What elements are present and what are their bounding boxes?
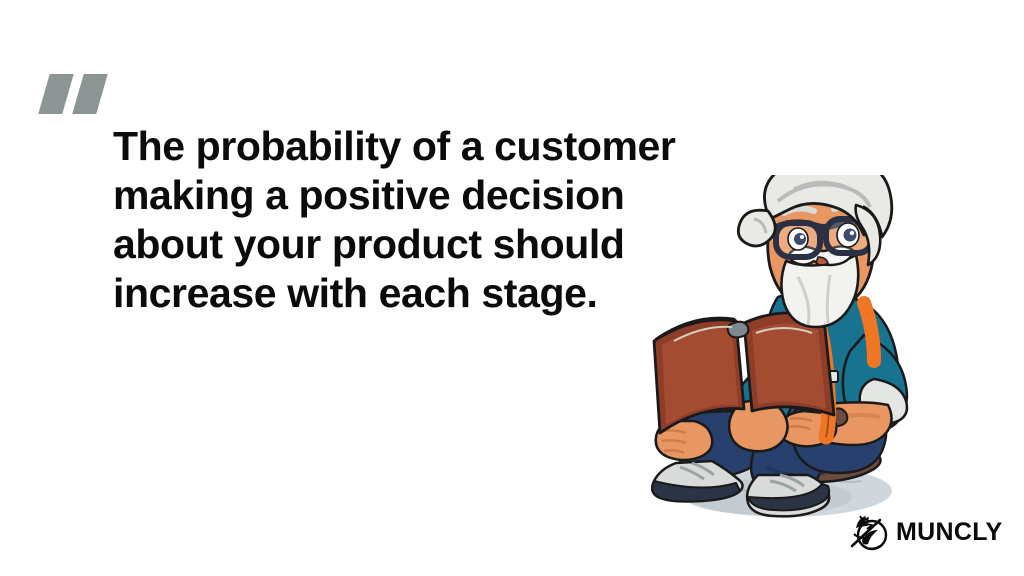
elderly-man-reading-book-illustration	[618, 175, 928, 520]
brand-logo: MUNCLY	[846, 509, 998, 555]
brand-name: MUNCLY	[896, 520, 1002, 545]
quote-slide: The probability of a customer making a p…	[0, 0, 1024, 576]
quote-text: The probability of a customer making a p…	[113, 122, 688, 318]
quote-line-2: making a positive decision	[113, 171, 688, 220]
muncly-crest-icon	[846, 510, 890, 554]
quote-line-4: increase with each stage.	[113, 269, 688, 318]
quote-line-3: about your product should	[113, 220, 688, 269]
quote-bar-left	[38, 74, 73, 114]
quote-line-1: The probability of a customer	[113, 122, 688, 171]
double-quote-icon	[40, 74, 112, 114]
quote-bar-right	[72, 74, 107, 114]
